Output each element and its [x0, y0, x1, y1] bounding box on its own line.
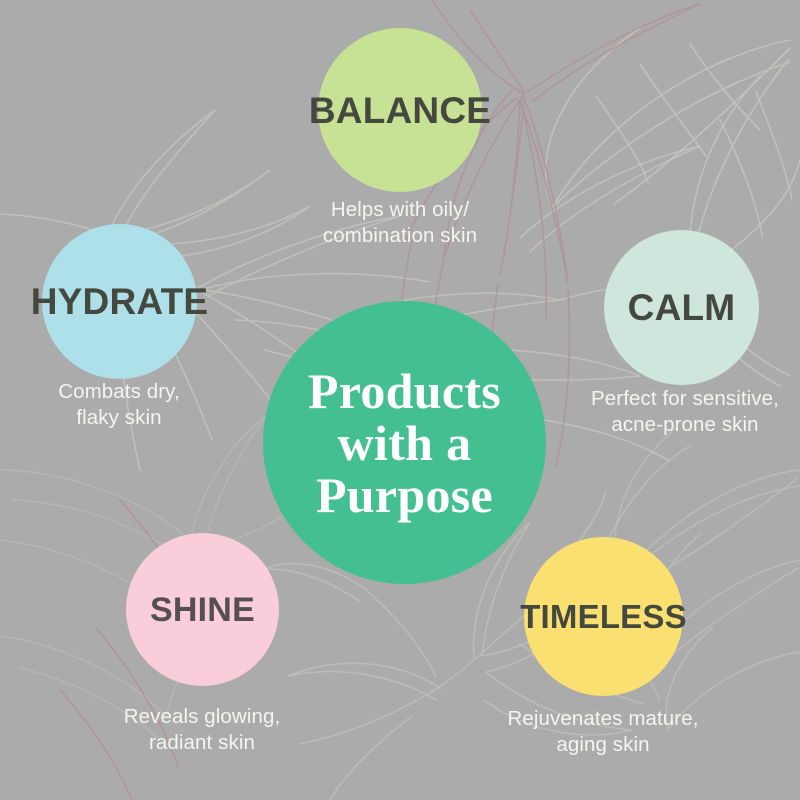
node-caption-shine: Reveals glowing, radiant skin [82, 704, 322, 756]
node-label-balance: BALANCE [309, 92, 491, 129]
node-caption-timeless: Rejuvenates mature, aging skin [483, 706, 723, 758]
node-caption-hydrate: Combats dry, flaky skin [0, 379, 239, 431]
infographic-canvas: Products with a Purpose BALANCE Helps wi… [0, 0, 800, 800]
node-circle-hydrate[interactable]: HYDRATE [42, 224, 197, 379]
node-label-calm: CALM [628, 289, 736, 326]
node-circle-shine[interactable]: SHINE [126, 533, 279, 686]
node-caption-balance: Helps with oily/ combination skin [260, 197, 540, 249]
node-label-hydrate: HYDRATE [31, 283, 209, 320]
node-circle-timeless[interactable]: TIMELESS [524, 537, 683, 696]
center-hub-circle[interactable]: Products with a Purpose [263, 301, 546, 584]
node-label-shine: SHINE [150, 593, 255, 627]
hub-title: Products with a Purpose [263, 365, 546, 521]
node-circle-balance[interactable]: BALANCE [318, 28, 482, 192]
node-label-timeless: TIMELESS [520, 600, 687, 633]
node-circle-calm[interactable]: CALM [604, 230, 759, 385]
node-caption-calm: Perfect for sensitive, acne-prone skin [560, 386, 800, 438]
